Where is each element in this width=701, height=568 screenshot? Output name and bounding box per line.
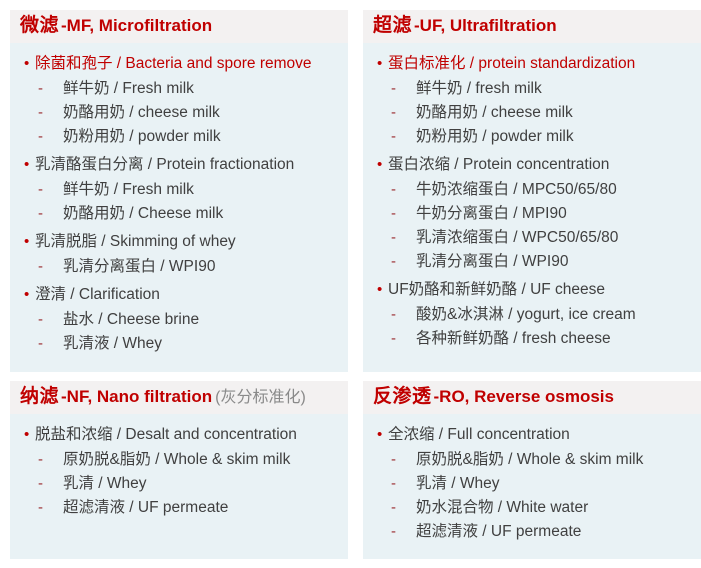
bullet-icon: • <box>24 287 35 302</box>
list-item-label: 乳清浓缩蛋白 / WPC50/65/80 <box>416 226 618 250</box>
list-item-label: 各种新鲜奶酪 / fresh cheese <box>416 327 611 351</box>
group-heading: •UF奶酪和新鲜奶酪 / UF cheese <box>367 277 697 303</box>
list-item-label: 奶酪用奶 / cheese milk <box>416 101 573 125</box>
bullet-icon: • <box>377 56 388 71</box>
panel-ro: 反渗透-RO, Reverse osmosis•全浓缩 / Full conce… <box>363 381 701 559</box>
group-label: 乳清酪蛋白分离 / Protein fractionation <box>35 153 294 177</box>
panel-body-uf: •蛋白标准化 / protein standardization-鲜牛奶 / f… <box>363 43 701 372</box>
dash-icon: - <box>38 312 63 327</box>
dash-icon: - <box>38 182 63 197</box>
list-item-label: 牛奶浓缩蛋白 / MPC50/65/80 <box>416 178 617 202</box>
list-item: -超滤清液 / UF permeate <box>367 520 697 544</box>
panel-body-ro: •全浓缩 / Full concentration-原奶脱&脂奶 / Whole… <box>363 414 701 559</box>
group-heading: •蛋白标准化 / protein standardization <box>367 51 697 77</box>
dash-icon: - <box>391 129 416 144</box>
dash-icon: - <box>38 129 63 144</box>
group-label: 全浓缩 / Full concentration <box>388 423 570 447</box>
panel-title-en: -UF, Ultrafiltration <box>414 16 557 35</box>
list-item: -各种新鲜奶酪 / fresh cheese <box>367 327 697 351</box>
panel-body-mf: •除菌和孢子 / Bacteria and spore remove-鲜牛奶 /… <box>10 43 348 372</box>
dash-icon: - <box>391 81 416 96</box>
panel-title-en: -MF, Microfiltration <box>61 16 212 35</box>
group-label: 乳清脱脂 / Skimming of whey <box>35 230 236 254</box>
list-item-label: 酸奶&冰淇淋 / yogurt, ice cream <box>416 303 636 327</box>
dash-icon: - <box>38 259 63 274</box>
panel-title-cn: 纳滤 <box>20 386 59 407</box>
bullet-icon: • <box>377 427 388 442</box>
list-item: -乳清分离蛋白 / WPI90 <box>367 250 697 274</box>
group-heading: •乳清脱脂 / Skimming of whey <box>14 229 344 255</box>
panel-header-ro: 反渗透-RO, Reverse osmosis <box>363 381 701 414</box>
list-item: -超滤清液 / UF permeate <box>14 496 344 520</box>
filtration-panel-board: 微滤-MF, Microfiltration•除菌和孢子 / Bacteria … <box>0 0 701 568</box>
dash-icon: - <box>391 524 416 539</box>
group-label: 蛋白标准化 / protein standardization <box>388 52 635 76</box>
dash-icon: - <box>38 452 63 467</box>
list-item-label: 鲜牛奶 / Fresh milk <box>63 77 194 101</box>
dash-icon: - <box>38 81 63 96</box>
dash-icon: - <box>391 331 416 346</box>
bullet-icon: • <box>24 234 35 249</box>
dash-icon: - <box>391 500 416 515</box>
list-item-label: 乳清分离蛋白 / WPI90 <box>416 250 568 274</box>
list-item: -乳清液 / Whey <box>14 332 344 356</box>
panel-title-cn: 反渗透 <box>373 386 432 407</box>
list-item: -鲜牛奶 / Fresh milk <box>14 178 344 202</box>
list-item-label: 奶酪用奶 / Cheese milk <box>63 202 223 226</box>
panel-header-mf: 微滤-MF, Microfiltration <box>10 10 348 43</box>
list-item-label: 超滤清液 / UF permeate <box>416 520 581 544</box>
list-item-label: 盐水 / Cheese brine <box>63 308 199 332</box>
list-item: -奶酪用奶 / Cheese milk <box>14 202 344 226</box>
dash-icon: - <box>391 105 416 120</box>
list-item-label: 乳清 / Whey <box>63 472 147 496</box>
list-item: -奶酪用奶 / cheese milk <box>14 101 344 125</box>
group-heading: •乳清酪蛋白分离 / Protein fractionation <box>14 152 344 178</box>
dash-icon: - <box>391 307 416 322</box>
list-item-label: 奶酪用奶 / cheese milk <box>63 101 220 125</box>
panel-title-note: (灰分标准化) <box>215 389 306 406</box>
list-item-label: 鲜牛奶 / Fresh milk <box>63 178 194 202</box>
list-item: -盐水 / Cheese brine <box>14 308 344 332</box>
dash-icon: - <box>391 206 416 221</box>
bullet-icon: • <box>377 282 388 297</box>
group-heading: •蛋白浓缩 / Protein concentration <box>367 152 697 178</box>
list-item: -奶水混合物 / White water <box>367 496 697 520</box>
dash-icon: - <box>38 105 63 120</box>
dash-icon: - <box>391 182 416 197</box>
panel-title-cn: 超滤 <box>373 15 412 36</box>
bullet-icon: • <box>24 56 35 71</box>
group-heading: •除菌和孢子 / Bacteria and spore remove <box>14 51 344 77</box>
list-item: -乳清浓缩蛋白 / WPC50/65/80 <box>367 226 697 250</box>
panel-header-nf: 纳滤-NF, Nano filtration(灰分标准化) <box>10 381 348 414</box>
dash-icon: - <box>38 206 63 221</box>
dash-icon: - <box>391 476 416 491</box>
list-item-label: 乳清分离蛋白 / WPI90 <box>63 255 215 279</box>
panel-mf: 微滤-MF, Microfiltration•除菌和孢子 / Bacteria … <box>10 10 348 372</box>
dash-icon: - <box>38 500 63 515</box>
panel-title-en: -NF, Nano filtration <box>61 387 212 406</box>
list-item: -鲜牛奶 / Fresh milk <box>14 77 344 101</box>
group-label: 澄清 / Clarification <box>35 283 160 307</box>
group-label: 脱盐和浓缩 / Desalt and concentration <box>35 423 297 447</box>
list-item: -乳清分离蛋白 / WPI90 <box>14 255 344 279</box>
group-label: UF奶酪和新鲜奶酪 / UF cheese <box>388 278 605 302</box>
dash-icon: - <box>38 336 63 351</box>
bullet-icon: • <box>377 157 388 172</box>
panel-body-nf: •脱盐和浓缩 / Desalt and concentration-原奶脱&脂奶… <box>10 414 348 559</box>
list-item: -奶酪用奶 / cheese milk <box>367 101 697 125</box>
group-heading: •澄清 / Clarification <box>14 282 344 308</box>
dash-icon: - <box>391 230 416 245</box>
group-label: 除菌和孢子 / Bacteria and spore remove <box>35 52 312 76</box>
list-item-label: 原奶脱&脂奶 / Whole & skim milk <box>416 448 643 472</box>
list-item: -牛奶浓缩蛋白 / MPC50/65/80 <box>367 178 697 202</box>
dash-icon: - <box>391 254 416 269</box>
dash-icon: - <box>391 452 416 467</box>
list-item: -牛奶分离蛋白 / MPI90 <box>367 202 697 226</box>
list-item-label: 奶粉用奶 / powder milk <box>416 125 574 149</box>
panel-title-cn: 微滤 <box>20 15 59 36</box>
list-item-label: 鲜牛奶 / fresh milk <box>416 77 542 101</box>
group-label: 蛋白浓缩 / Protein concentration <box>388 153 609 177</box>
list-item-label: 奶粉用奶 / powder milk <box>63 125 221 149</box>
list-item-label: 原奶脱&脂奶 / Whole & skim milk <box>63 448 290 472</box>
bullet-icon: • <box>24 427 35 442</box>
list-item: -原奶脱&脂奶 / Whole & skim milk <box>367 448 697 472</box>
list-item-label: 奶水混合物 / White water <box>416 496 588 520</box>
panel-header-uf: 超滤-UF, Ultrafiltration <box>363 10 701 43</box>
list-item: -鲜牛奶 / fresh milk <box>367 77 697 101</box>
list-item-label: 乳清 / Whey <box>416 472 500 496</box>
panel-title-en: -RO, Reverse osmosis <box>434 387 614 406</box>
list-item-label: 乳清液 / Whey <box>63 332 162 356</box>
panel-nf: 纳滤-NF, Nano filtration(灰分标准化)•脱盐和浓缩 / De… <box>10 381 348 559</box>
list-item: -奶粉用奶 / powder milk <box>367 125 697 149</box>
list-item: -乳清 / Whey <box>14 472 344 496</box>
list-item: -原奶脱&脂奶 / Whole & skim milk <box>14 448 344 472</box>
list-item-label: 超滤清液 / UF permeate <box>63 496 228 520</box>
list-item-label: 牛奶分离蛋白 / MPI90 <box>416 202 567 226</box>
bullet-icon: • <box>24 157 35 172</box>
group-heading: •全浓缩 / Full concentration <box>367 422 697 448</box>
list-item: -乳清 / Whey <box>367 472 697 496</box>
list-item: -酸奶&冰淇淋 / yogurt, ice cream <box>367 303 697 327</box>
panel-uf: 超滤-UF, Ultrafiltration•蛋白标准化 / protein s… <box>363 10 701 372</box>
group-heading: •脱盐和浓缩 / Desalt and concentration <box>14 422 344 448</box>
dash-icon: - <box>38 476 63 491</box>
list-item: -奶粉用奶 / powder milk <box>14 125 344 149</box>
